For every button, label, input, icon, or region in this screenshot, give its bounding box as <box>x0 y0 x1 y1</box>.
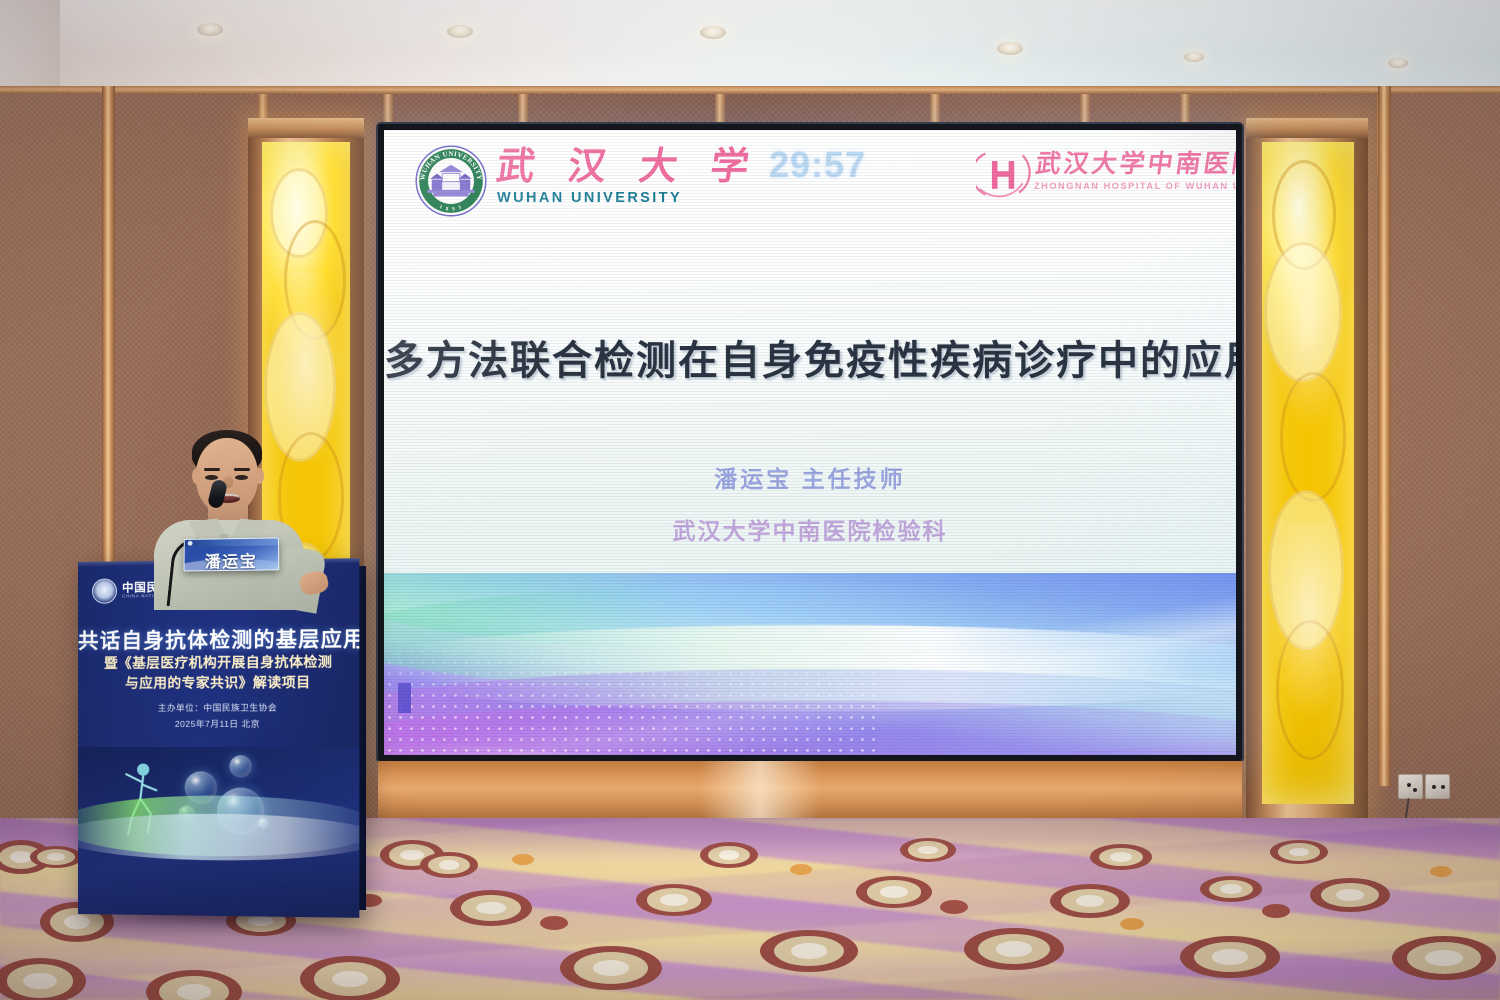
led-screen[interactable]: WUHAN UNIVERSITY 1 8 9 3 武 汉 大 学 WUHAN U… <box>378 124 1242 761</box>
podium-subline: 暨《基层医疗机构开展自身抗体检测 与应用的专家共识》解读项目 <box>78 652 359 693</box>
ceiling <box>0 0 1500 92</box>
conference-hall-scene: WUHAN UNIVERSITY 1 8 9 3 武 汉 大 学 WUHAN U… <box>0 0 1500 1000</box>
screen-base-sheen <box>700 761 820 821</box>
speaker-brow <box>234 468 250 471</box>
slide-presenter: 潘运宝 主任技师 <box>384 460 1236 494</box>
speaker-brow <box>204 468 220 471</box>
speaker-nameplate: 潘运宝 <box>183 537 279 571</box>
onyx-column-right-cap <box>1246 118 1368 138</box>
downlight-icon <box>197 23 223 36</box>
slide-affiliation: 武汉大学中南医院检验科 <box>384 512 1236 546</box>
downlight-icon <box>1184 52 1204 62</box>
slide-header: WUHAN UNIVERSITY 1 8 9 3 武 汉 大 学 WUHAN U… <box>384 130 1236 234</box>
podium-artwork <box>78 747 359 918</box>
countdown-timer: 29:57 <box>769 144 866 186</box>
downlight-icon <box>447 25 473 38</box>
wuhan-university-seal-icon: WUHAN UNIVERSITY 1 8 9 3 <box>414 144 488 218</box>
speaker-eye <box>235 475 248 480</box>
zhongnan-hospital-logo: 武汉大学中南医院 ZHONGNAN HOSPITAL OF WUHAN UNIV… <box>976 144 1234 214</box>
downlight-icon <box>1388 58 1408 68</box>
organization-seal-icon <box>92 579 117 604</box>
presentation-slide: WUHAN UNIVERSITY 1 8 9 3 武 汉 大 学 WUHAN U… <box>384 130 1236 755</box>
speaker-ear <box>192 468 201 484</box>
wall-copper-trim <box>1378 86 1391 786</box>
wuhan-university-wordmark: 武 汉 大 学 WUHAN UNIVERSITY <box>497 146 759 206</box>
onyx-column-right-frame <box>1246 118 1368 818</box>
downlight-icon <box>700 26 726 39</box>
zhongnan-hospital-name-cn: 武汉大学中南医院 <box>1033 144 1236 180</box>
nameplate-top-bar <box>185 538 278 546</box>
onyx-column-right-panel <box>1262 142 1354 804</box>
wuhan-university-name-en: WUHAN UNIVERSITY <box>497 190 759 206</box>
slide-bottom-artwork <box>384 573 1236 755</box>
podium: 中国民族卫生协会 CHINA NATIONAL HEALTH ASSOCIATI… <box>78 558 359 918</box>
zhongnan-h-monogram-icon <box>976 148 1032 200</box>
podium-organizer-line: 主办单位：中国民族卫生协会 <box>78 699 359 716</box>
art-dot-pattern <box>384 635 878 755</box>
downlight-icon <box>997 42 1023 55</box>
ceiling-highlight <box>0 0 1500 92</box>
podium-headline: 共话自身抗体检测的基层应用 <box>78 622 359 654</box>
wall-top-copper-band <box>0 86 1500 94</box>
power-outlet[interactable] <box>1425 774 1450 799</box>
speaker-person <box>150 424 390 604</box>
onyx-column-left-cap <box>248 118 364 138</box>
podium-date-line: 2025年7月11日 北京 <box>78 716 359 733</box>
bubble-decoration <box>229 755 252 777</box>
podium-light-streak <box>78 813 359 862</box>
power-outlet[interactable] <box>1398 774 1423 799</box>
wuhan-university-name-cn: 武 汉 大 学 <box>494 146 761 186</box>
speaker-ear <box>255 468 264 484</box>
nameplate-name: 潘运宝 <box>184 547 278 571</box>
zhongnan-hospital-name-en: ZHONGNAN HOSPITAL OF WUHAN UNIVERSITY <box>1034 181 1236 191</box>
art-corner-mark <box>398 683 411 713</box>
podium-organizer: 主办单位：中国民族卫生协会 2025年7月11日 北京 <box>78 699 359 732</box>
nameplate-logo-icon <box>188 541 193 546</box>
slide-title: 多方法联合检测在自身免疫性疾病诊疗中的应用 <box>384 328 1236 386</box>
